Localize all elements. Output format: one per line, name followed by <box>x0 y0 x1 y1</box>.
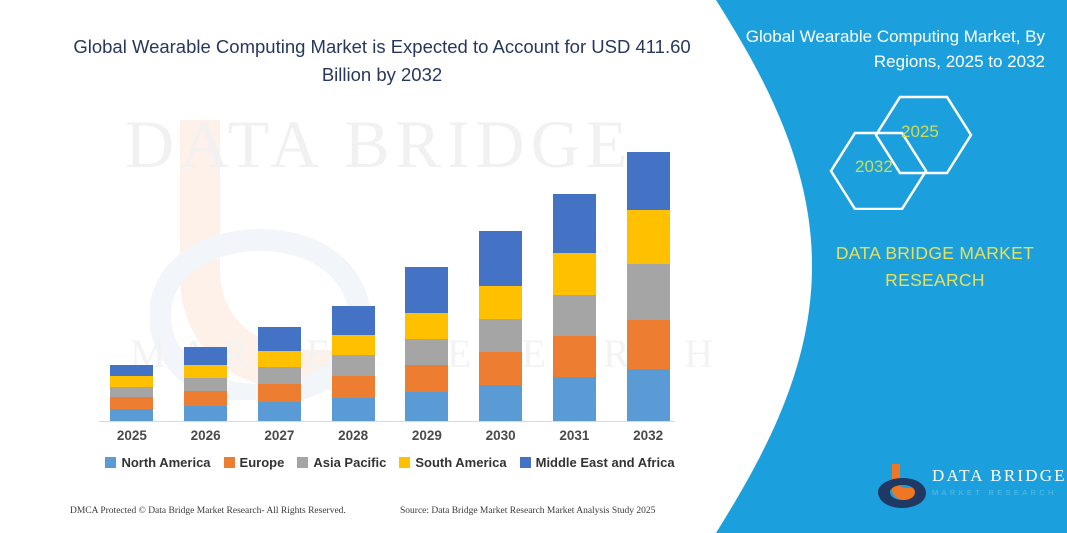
bar-segment <box>184 365 227 378</box>
bar-segment <box>258 327 301 351</box>
bar-segment <box>258 367 301 384</box>
bar-segment <box>110 365 153 376</box>
footer-copyright: DMCA Protected © Data Bridge Market Rese… <box>70 506 346 516</box>
x-axis-label: 2031 <box>548 428 600 450</box>
bar-segment <box>184 347 227 365</box>
legend-swatch-icon <box>297 457 308 468</box>
company-logo: DATA BRIDGE MARKET RESEARCH <box>872 462 1062 514</box>
bar-column <box>106 365 158 422</box>
bar-segment <box>627 152 670 210</box>
legend-item[interactable]: Europe <box>224 455 285 470</box>
bar-segment <box>332 306 375 335</box>
chart-x-axis-labels: 20252026202720282029203020312032 <box>95 428 685 450</box>
bar-segment <box>405 365 448 392</box>
x-axis-label: 2032 <box>622 428 674 450</box>
logo-text-line1: DATA BRIDGE <box>932 466 1067 486</box>
bar-segment <box>110 397 153 409</box>
legend-label: North America <box>121 455 210 470</box>
bar-column <box>622 152 674 422</box>
bar-column <box>548 194 600 422</box>
x-axis-label: 2025 <box>106 428 158 450</box>
legend-item[interactable]: Asia Pacific <box>297 455 386 470</box>
chart-baseline-axis <box>99 421 675 422</box>
bar-segment <box>479 286 522 319</box>
chart-legend: North AmericaEuropeAsia PacificSouth Ame… <box>95 455 685 470</box>
x-axis-label: 2026 <box>180 428 232 450</box>
hexagon-2025-label: 2025 <box>901 122 939 142</box>
brand-name-line2: RESEARCH <box>790 267 1067 294</box>
bar-segment <box>258 402 301 422</box>
bar-segment <box>110 376 153 387</box>
hexagon-group: 2032 2025 <box>825 95 1025 210</box>
legend-swatch-icon <box>520 457 531 468</box>
bar-segment <box>184 378 227 391</box>
legend-swatch-icon <box>399 457 410 468</box>
bar-segment <box>553 253 596 295</box>
stacked-bar-chart <box>95 120 685 422</box>
bar-segment <box>553 295 596 336</box>
x-axis-label: 2029 <box>401 428 453 450</box>
bar-column <box>253 327 305 422</box>
bar-segment <box>479 319 522 352</box>
bar-segment <box>627 210 670 264</box>
data-bridge-logo-icon <box>872 462 930 512</box>
bar-segment <box>184 391 227 406</box>
page-title: Global Wearable Computing Market is Expe… <box>62 33 702 89</box>
bar-segment <box>553 194 596 253</box>
legend-swatch-icon <box>224 457 235 468</box>
infographic-canvas: DATA BRIDGE MARKET RESEARCH Global Weara… <box>0 0 1067 533</box>
brand-name: DATA BRIDGE MARKET RESEARCH <box>790 240 1067 294</box>
legend-label: Europe <box>240 455 285 470</box>
bar-segment <box>405 267 448 313</box>
panel-title: Global Wearable Computing Market, By Reg… <box>735 25 1045 74</box>
bar-segment <box>479 352 522 385</box>
x-axis-label: 2027 <box>253 428 305 450</box>
bar-segment <box>405 313 448 339</box>
legend-label: South America <box>415 455 506 470</box>
bar-column <box>475 231 527 422</box>
bar-segment <box>627 264 670 320</box>
footer-source: Source: Data Bridge Market Research Mark… <box>400 506 655 516</box>
chart-bars <box>95 120 685 422</box>
legend-swatch-icon <box>105 457 116 468</box>
legend-label: Asia Pacific <box>313 455 386 470</box>
bar-column <box>401 267 453 422</box>
bar-column <box>180 347 232 422</box>
logo-text-line2: MARKET RESEARCH <box>932 488 1067 497</box>
bar-segment <box>258 351 301 367</box>
logo-text: DATA BRIDGE MARKET RESEARCH <box>932 466 1067 497</box>
bar-segment <box>553 336 596 377</box>
hexagon-2032-label: 2032 <box>855 157 893 177</box>
footer: DMCA Protected © Data Bridge Market Rese… <box>0 506 700 526</box>
bar-segment <box>627 369 670 422</box>
bar-segment <box>479 385 522 422</box>
bar-segment <box>627 320 670 369</box>
legend-item[interactable]: North America <box>105 455 210 470</box>
brand-name-line1: DATA BRIDGE MARKET <box>790 240 1067 267</box>
bar-segment <box>553 377 596 422</box>
legend-label: Middle East and Africa <box>536 455 675 470</box>
bar-segment <box>405 339 448 365</box>
bar-segment <box>332 335 375 355</box>
legend-item[interactable]: Middle East and Africa <box>520 455 675 470</box>
x-axis-label: 2028 <box>327 428 379 450</box>
bar-segment <box>110 387 153 397</box>
bar-segment <box>405 392 448 422</box>
bar-segment <box>332 398 375 422</box>
bar-column <box>327 306 379 422</box>
bar-segment <box>332 355 375 376</box>
legend-item[interactable]: South America <box>399 455 506 470</box>
bar-segment <box>332 376 375 398</box>
bar-segment <box>258 384 301 402</box>
bar-segment <box>479 231 522 286</box>
x-axis-label: 2030 <box>475 428 527 450</box>
bar-segment <box>184 406 227 422</box>
